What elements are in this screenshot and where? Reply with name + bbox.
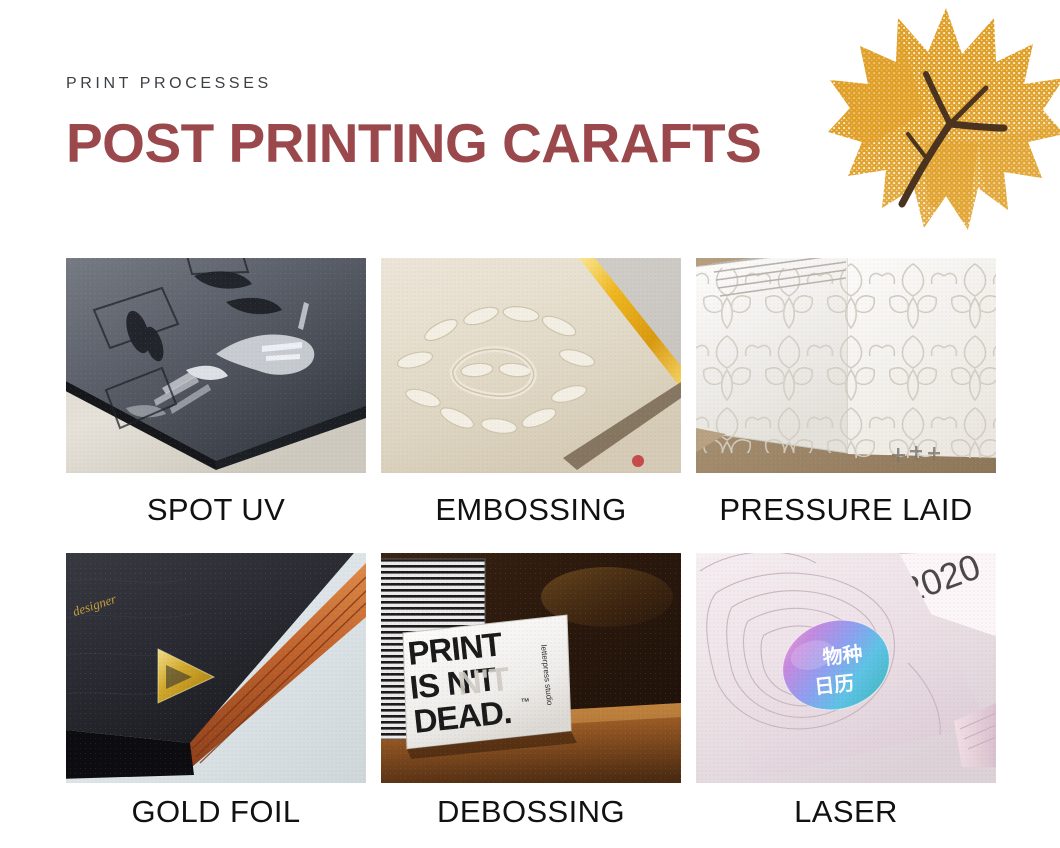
svg-text:N'T: N'T [456, 660, 511, 702]
grid-item-gold-foil[interactable]: designer GOLD FOIL [66, 553, 366, 829]
maple-leaf-icon [828, 0, 1060, 240]
grid-item-caption: GOLD FOIL [66, 795, 366, 829]
grid-row: designer GOLD FOIL [66, 553, 995, 829]
page-title: POST PRINTING CARAFTS [66, 115, 826, 173]
grid-item-caption: PRESSURE LAID [696, 493, 996, 527]
spot-uv-photo[interactable] [66, 258, 366, 473]
grid-item-laser[interactable]: 2020 [696, 553, 996, 829]
page-header: PRINT PROCESSES POST PRINTING CARAFTS [66, 74, 826, 173]
grid-item-caption: LASER [696, 795, 996, 829]
laser-photo[interactable]: 2020 [696, 553, 996, 783]
eyebrow-label: PRINT PROCESSES [66, 74, 826, 93]
grid-item-debossing[interactable]: PRINT IS N'T DEAD. N'T letterpress studi… [381, 553, 681, 829]
grid-item-pressure-laid[interactable]: PRESSURE LAID [696, 258, 996, 527]
grid-item-caption: EMBOSSING [381, 493, 681, 527]
embossing-photo[interactable] [381, 258, 681, 473]
svg-text:™: ™ [520, 696, 530, 707]
gold-foil-photo[interactable]: designer [66, 553, 366, 783]
debossing-photo[interactable]: PRINT IS N'T DEAD. N'T letterpress studi… [381, 553, 681, 783]
svg-text:日历: 日历 [813, 673, 855, 699]
pressure-laid-photo[interactable] [696, 258, 996, 473]
grid-item-spot-uv[interactable]: SPOT UV [66, 258, 366, 527]
grid-item-embossing[interactable]: EMBOSSING [381, 258, 681, 527]
grid-item-caption: DEBOSSING [381, 795, 681, 829]
processes-grid: SPOT UV [66, 258, 995, 829]
grid-row: SPOT UV [66, 258, 995, 527]
grid-item-caption: SPOT UV [66, 493, 366, 527]
